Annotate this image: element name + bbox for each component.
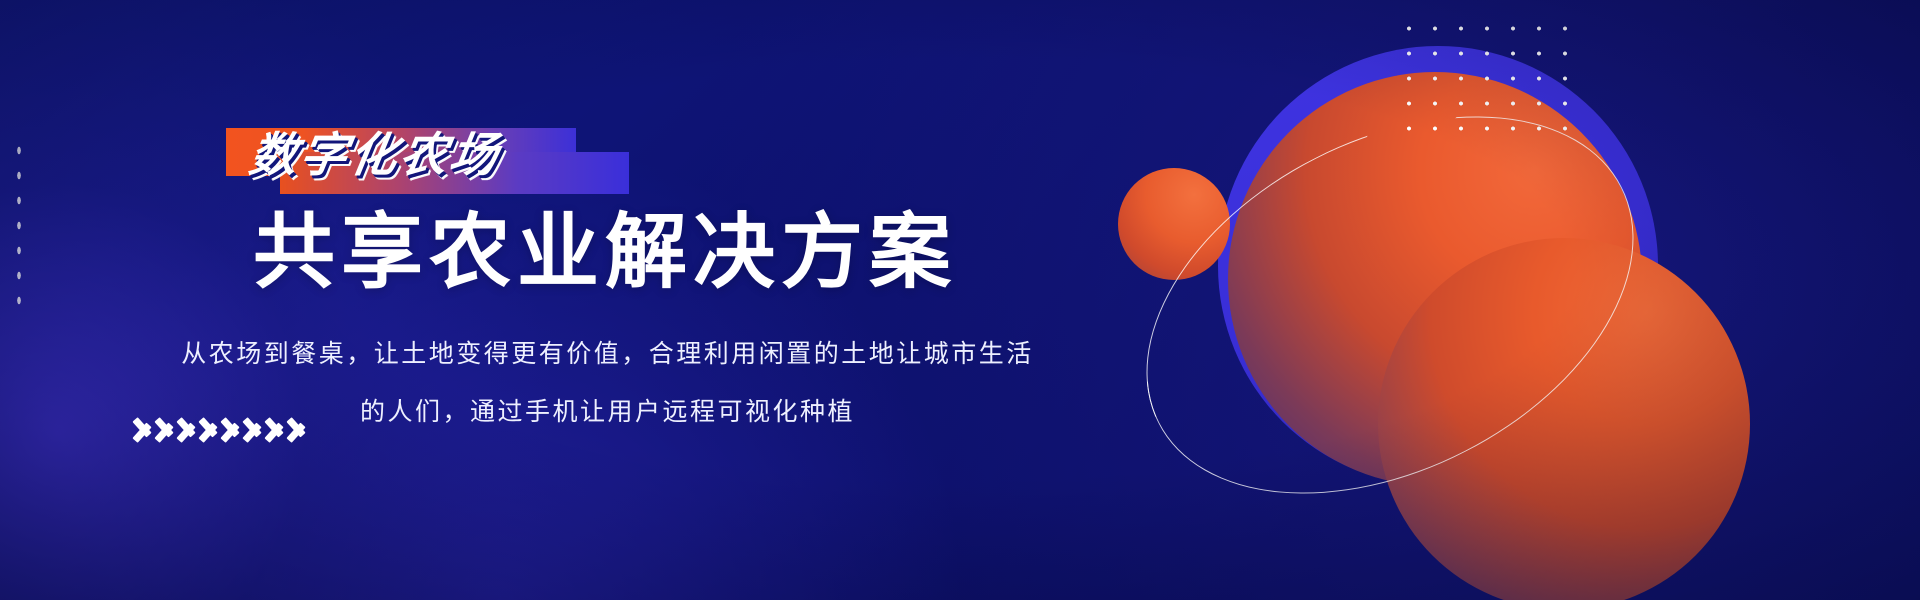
subtitle-line-1: 从农场到餐桌，让土地变得更有价值，合理利用闲置的土地让城市生活	[0, 325, 1215, 383]
hero-banner: 数字化农场 共享农业解决方案 从农场到餐桌，让土地变得更有价值，合理利用闲置的土…	[0, 0, 1920, 600]
chevron-left-icon	[221, 407, 241, 452]
chevron-left-icon	[133, 407, 153, 452]
chevron-left-icon	[287, 407, 307, 452]
chevron-left-icon	[199, 407, 219, 452]
chevron-left-icon	[265, 407, 285, 452]
chevron-left-icon	[243, 407, 263, 452]
badge-label: 数字化农场	[245, 124, 595, 186]
chevron-left-icon	[177, 407, 197, 452]
headline-title: 共享农业解决方案	[0, 205, 1210, 301]
chevron-arrow-group	[133, 407, 307, 452]
chevron-left-icon	[155, 407, 175, 452]
category-badge: 数字化农场	[226, 128, 576, 193]
